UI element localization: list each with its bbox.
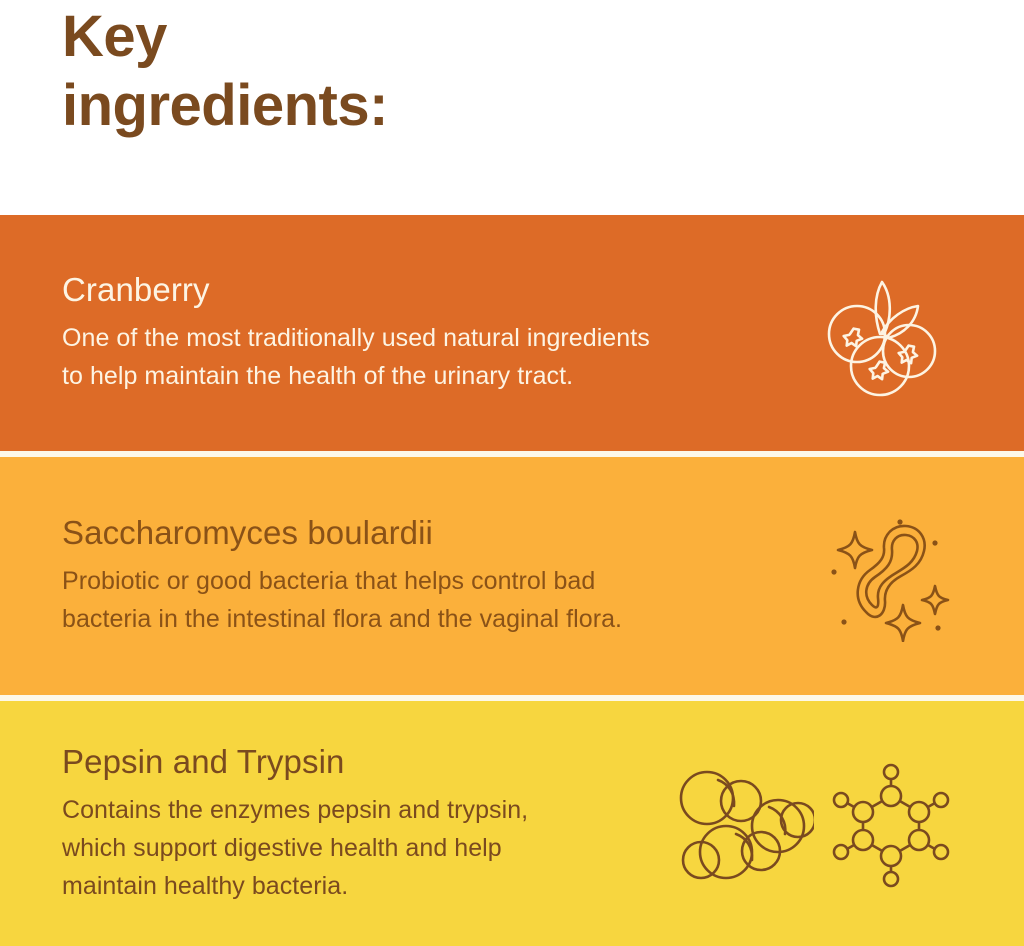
page-title: Key ingredients:	[62, 0, 388, 140]
ingredient-card-cranberry: Cranberry One of the most traditionally …	[0, 215, 1024, 451]
ingredient-card-pepsin-and-trypsin: Pepsin and Trypsin Contains the enzymes …	[0, 701, 1024, 946]
ingredient-description: One of the most traditionally used natur…	[62, 319, 822, 395]
ingredient-description: Probiotic or good bacteria that helps co…	[62, 562, 822, 638]
cranberry-icon	[822, 268, 938, 398]
ingredient-text-block: Cranberry One of the most traditionally …	[62, 271, 822, 395]
ingredient-title: Pepsin and Trypsin	[62, 743, 674, 781]
ingredient-text-block: Pepsin and Trypsin Contains the enzymes …	[62, 743, 674, 905]
ingredient-icons	[674, 760, 994, 888]
ingredient-title: Cranberry	[62, 271, 822, 309]
ingredient-title: Saccharomyces boulardii	[62, 514, 822, 552]
ingredient-icons	[822, 268, 984, 398]
enzyme-cells-icon	[674, 768, 814, 880]
ingredient-description: Contains the enzymes pepsin and trypsin,…	[62, 791, 674, 905]
molecule-icon	[832, 760, 950, 888]
probiotic-bacteria-icon	[822, 510, 954, 642]
header: Key ingredients:	[0, 0, 1024, 215]
ingredient-icons	[822, 510, 990, 642]
ingredient-card-saccharomyces-boulardii: Saccharomyces boulardii Probiotic or goo…	[0, 457, 1024, 695]
ingredients-infographic: Key ingredients: Cranberry One of the mo…	[0, 0, 1024, 946]
ingredient-text-block: Saccharomyces boulardii Probiotic or goo…	[62, 514, 822, 638]
